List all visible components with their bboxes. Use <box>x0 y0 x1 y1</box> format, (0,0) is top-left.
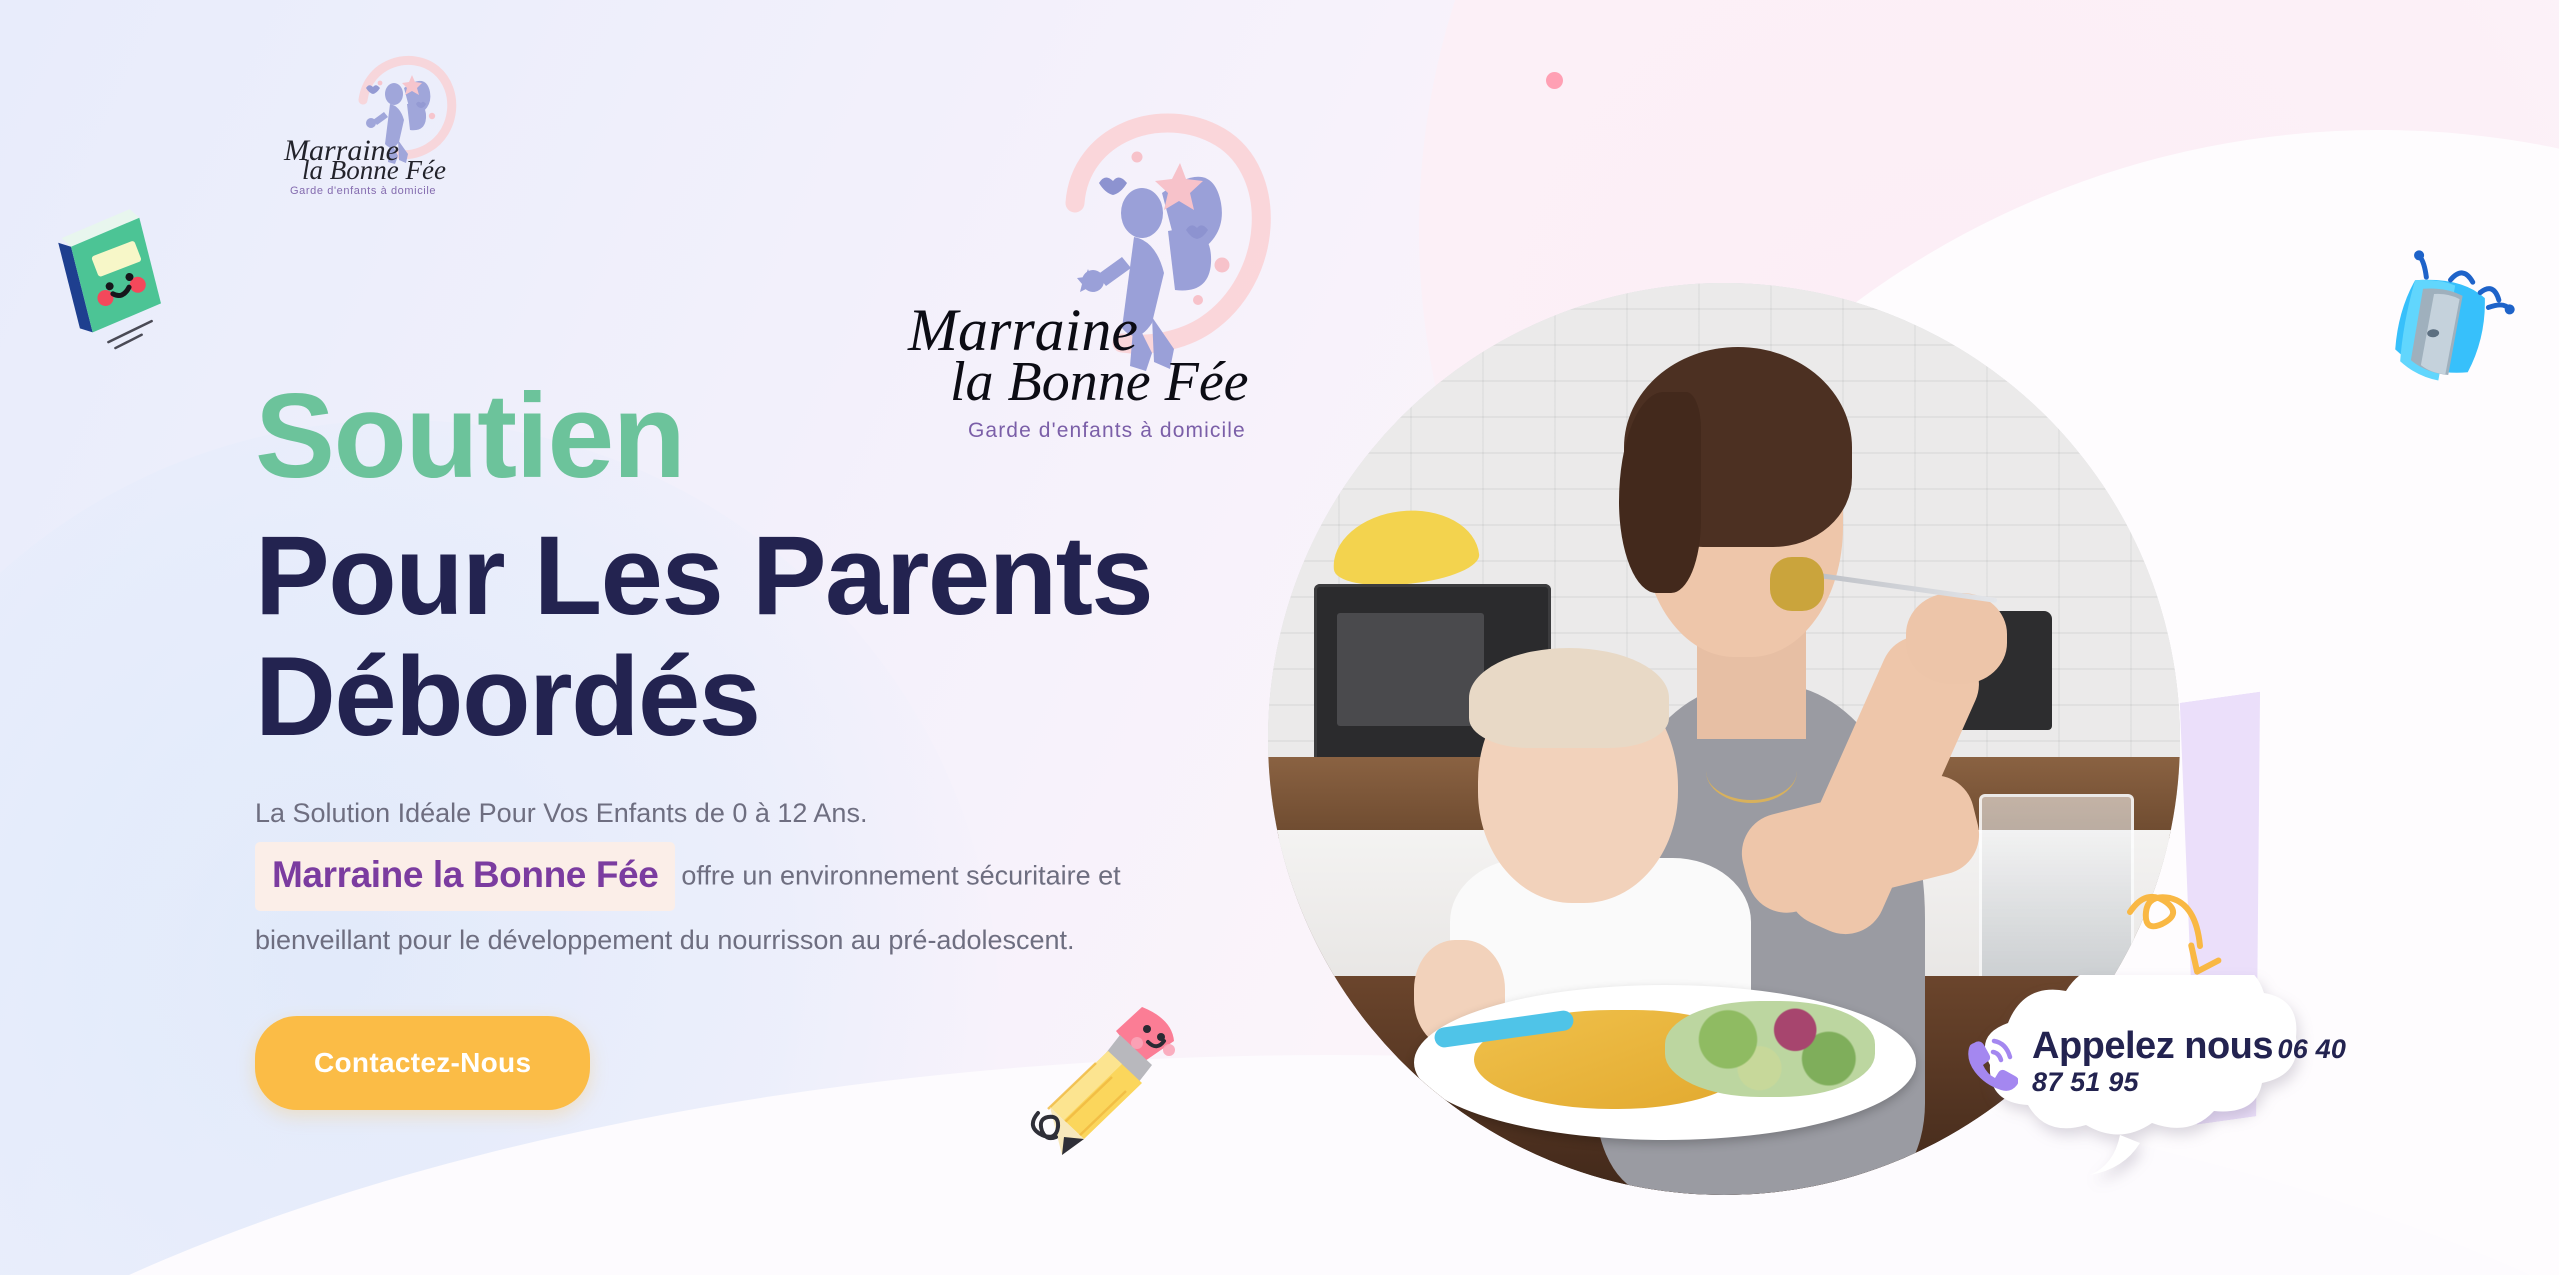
headline-line-1: Soutien <box>255 375 1275 497</box>
call-text-block: Appelez nous 06 40 87 51 95 <box>2032 1027 2368 1098</box>
call-us-callout[interactable]: Appelez nous 06 40 87 51 95 <box>1938 975 2368 1175</box>
book-icon <box>33 190 200 361</box>
page-title: Soutien Pour Les Parents Débordés <box>255 375 1275 754</box>
call-content: Appelez nous 06 40 87 51 95 <box>1960 1027 2368 1098</box>
photo-salad <box>1665 1001 1876 1097</box>
pencil-icon <box>1030 995 1200 1170</box>
header-logo[interactable]: Marraine la Bonne Fée Garde d'enfants à … <box>268 48 488 198</box>
contact-us-button[interactable]: Contactez-Nous <box>255 1016 590 1110</box>
hero-subtext-line-1: La Solution Idéale Pour Vos Enfants de 0… <box>255 792 1265 836</box>
headline-line-2: Pour Les Parents <box>255 519 1275 633</box>
curved-arrow-icon <box>2126 878 2236 983</box>
photo-glass <box>1979 794 2134 995</box>
pencil-sharpener-icon <box>2361 238 2534 411</box>
photo-mother-right-hand <box>1906 593 2006 684</box>
photo-mother-necklace <box>1706 739 1797 803</box>
hero-subtext-line-3: bienveillant pour le développement du no… <box>255 919 1265 963</box>
logo-tagline: Garde d'enfants à domicile <box>290 185 436 197</box>
hero-subtext-line-2: offre un environnement sécuritaire et <box>681 860 1120 890</box>
photo-plate <box>1414 985 1916 1140</box>
hero-section: Marraine la Bonne Fée Garde d'enfants à … <box>0 0 2559 1275</box>
headline-line-3: Débordés <box>255 640 1275 754</box>
brand-highlight-chip: Marraine la Bonne Fée <box>255 842 675 911</box>
photo-baby-hair <box>1469 648 1670 748</box>
hero-subtext: La Solution Idéale Pour Vos Enfants de 0… <box>255 792 1265 962</box>
call-title: Appelez nous <box>2032 1025 2273 1067</box>
phone-ringing-icon <box>1960 1033 2018 1091</box>
pink-dot-icon <box>1546 72 1563 89</box>
photo-mother-hair-side <box>1619 392 1701 593</box>
logo-name-line2: la Bonne Fée <box>302 155 446 185</box>
photo-food-bite <box>1770 557 1825 612</box>
